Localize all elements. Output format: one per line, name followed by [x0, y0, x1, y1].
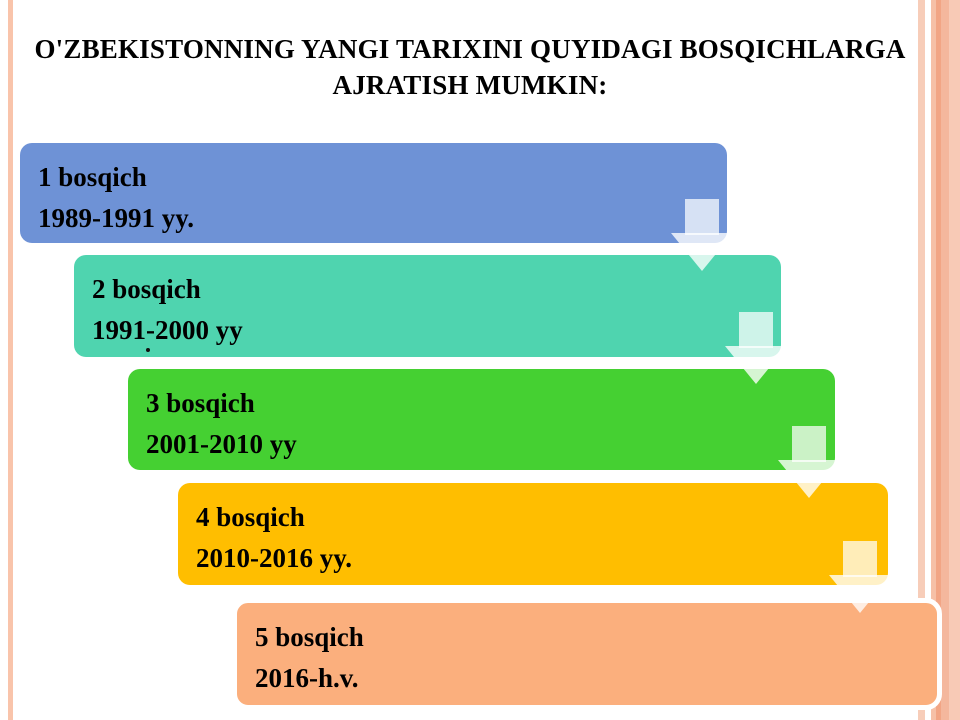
left-decorative-stripe — [8, 0, 13, 720]
stage-box-5[interactable]: 5 bosqich 2016-h.v. — [232, 598, 942, 710]
stage-box-4[interactable]: 4 bosqich 2010-2016 yy. — [178, 483, 888, 585]
stage-2-period: 1991-2000 yy — [92, 310, 781, 351]
stage-box-1[interactable]: 1 bosqich 1989-1991 yy. — [20, 143, 727, 243]
stage-5-label: 5 bosqich — [255, 617, 937, 658]
stage-box-2[interactable]: 2 bosqich 1991-2000 yy — [74, 255, 781, 357]
stage-1-period: 1989-1991 yy. — [38, 198, 727, 239]
slide-canvas: O'ZBEKISTONNING YANGI TARIXINI QUYIDAGI … — [0, 0, 960, 720]
page-title: O'ZBEKISTONNING YANGI TARIXINI QUYIDAGI … — [30, 32, 910, 103]
stage-box-3[interactable]: 3 bosqich 2001-2010 yy — [128, 369, 835, 470]
stage-3-period: 2001-2010 yy — [146, 424, 835, 465]
stage-2-label: 2 bosqich — [92, 269, 781, 310]
stray-period-mark — [146, 348, 150, 352]
stage-1-label: 1 bosqich — [38, 157, 727, 198]
stage-4-label: 4 bosqich — [196, 497, 888, 538]
stage-4-period: 2010-2016 yy. — [196, 538, 888, 579]
stage-5-period: 2016-h.v. — [255, 658, 937, 699]
right-stripe-7 — [949, 0, 960, 720]
stage-3-label: 3 bosqich — [146, 383, 835, 424]
right-stripe-6 — [941, 0, 949, 720]
